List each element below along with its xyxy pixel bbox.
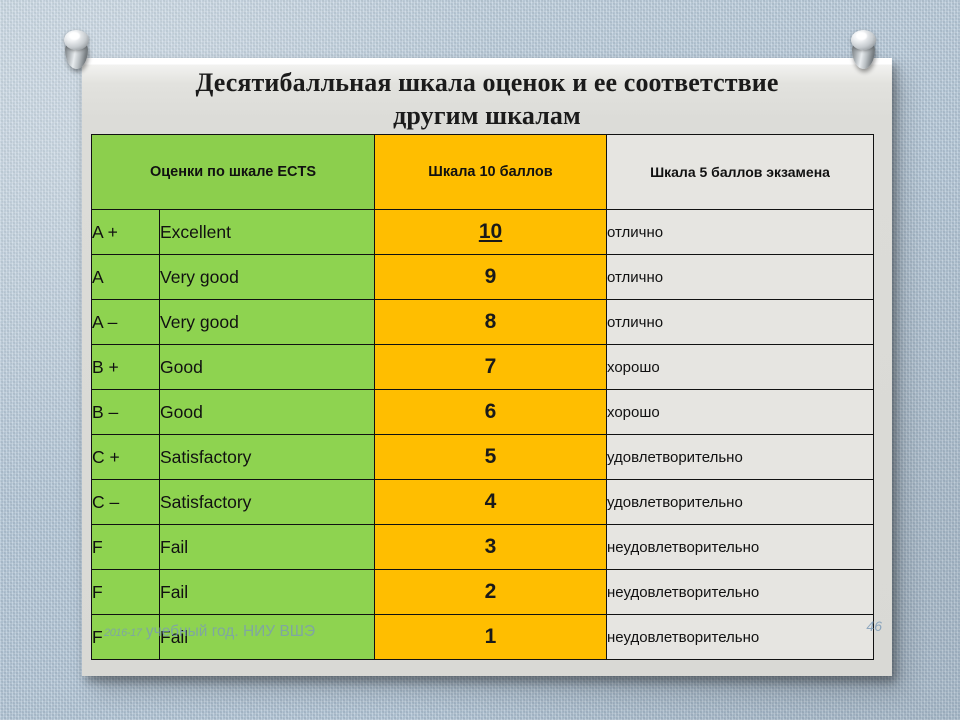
table-body: A +Excellent10отличноAVery good9отличноA…	[92, 210, 874, 660]
slide-title-line-1: Десятибалльная шкала оценок и ее соответ…	[82, 66, 892, 99]
column-header-five-point: Шкала 5 баллов экзамена	[607, 135, 874, 210]
cell-five-point-grade: неудовлетворительно	[607, 615, 874, 660]
cell-ects-description: Excellent	[160, 210, 375, 255]
table-row: C –Satisfactory4удовлетворительно	[92, 480, 874, 525]
column-header-ects: Оценки по шкале ECTS	[92, 135, 375, 210]
cell-ten-point-score: 4	[375, 480, 607, 525]
cell-five-point-grade: удовлетворительно	[607, 480, 874, 525]
cell-five-point-grade: хорошо	[607, 345, 874, 390]
cell-ects-description: Satisfactory	[160, 435, 375, 480]
table-row: A –Very good8отлично	[92, 300, 874, 345]
table-row: B +Good7хорошо	[92, 345, 874, 390]
cell-ten-point-score: 3	[375, 525, 607, 570]
cell-ten-point-score: 8	[375, 300, 607, 345]
cell-ects-description: Satisfactory	[160, 480, 375, 525]
cell-ects-mark: C –	[92, 480, 160, 525]
cell-ten-point-score: 10	[375, 210, 607, 255]
cell-ten-point-score: 2	[375, 570, 607, 615]
ten-point-value: 3	[485, 535, 497, 558]
cell-ten-point-score: 7	[375, 345, 607, 390]
cell-ects-mark: A +	[92, 210, 160, 255]
table-row: FFail1неудовлетворительно	[92, 615, 874, 660]
ten-point-value: 9	[485, 265, 497, 288]
table-row: A +Excellent10отлично	[92, 210, 874, 255]
cell-ects-mark: F	[92, 525, 160, 570]
table-header-row: Оценки по шкале ECTS Шкала 10 баллов Шка…	[92, 135, 874, 210]
cell-ects-mark: F	[92, 615, 160, 660]
cell-ects-mark: F	[92, 570, 160, 615]
cell-ects-description: Fail	[160, 615, 375, 660]
ten-point-value: 10	[479, 220, 502, 243]
cell-five-point-grade: отлично	[607, 300, 874, 345]
cell-five-point-grade: хорошо	[607, 390, 874, 435]
ten-point-value: 2	[485, 580, 497, 603]
presentation-slide: Десятибалльная шкала оценок и ее соответ…	[82, 58, 892, 676]
table-row: FFail2неудовлетворительно	[92, 570, 874, 615]
ten-point-value: 4	[485, 490, 497, 513]
ten-point-value: 1	[485, 625, 497, 648]
cell-ects-description: Fail	[160, 570, 375, 615]
cell-ects-mark: C +	[92, 435, 160, 480]
cell-ten-point-score: 1	[375, 615, 607, 660]
cell-five-point-grade: отлично	[607, 210, 874, 255]
column-header-ten-point: Шкала 10 баллов	[375, 135, 607, 210]
cell-ten-point-score: 5	[375, 435, 607, 480]
cell-ects-description: Good	[160, 345, 375, 390]
slide-title: Десятибалльная шкала оценок и ее соответ…	[82, 66, 892, 132]
cell-ects-mark: B –	[92, 390, 160, 435]
ten-point-value: 5	[485, 445, 497, 468]
table-row: B –Good6хорошо	[92, 390, 874, 435]
cell-ects-mark: A –	[92, 300, 160, 345]
cell-five-point-grade: неудовлетворительно	[607, 570, 874, 615]
ten-point-value: 7	[485, 355, 497, 378]
cell-ects-description: Very good	[160, 300, 375, 345]
cell-five-point-grade: отлично	[607, 255, 874, 300]
grading-scale-table: Оценки по шкале ECTS Шкала 10 баллов Шка…	[91, 134, 874, 660]
table-row: FFail3неудовлетворительно	[92, 525, 874, 570]
cell-ects-mark: A	[92, 255, 160, 300]
cell-ects-description: Fail	[160, 525, 375, 570]
slide-title-line-2: другим шкалам	[82, 99, 892, 132]
cell-ects-description: Very good	[160, 255, 375, 300]
table-row: C +Satisfactory5удовлетворительно	[92, 435, 874, 480]
ten-point-value: 8	[485, 310, 497, 333]
cell-ten-point-score: 6	[375, 390, 607, 435]
cell-ects-description: Good	[160, 390, 375, 435]
cell-ten-point-score: 9	[375, 255, 607, 300]
cell-five-point-grade: неудовлетворительно	[607, 525, 874, 570]
table-row: AVery good9отлично	[92, 255, 874, 300]
cell-ects-mark: B +	[92, 345, 160, 390]
ten-point-value: 6	[485, 400, 497, 423]
cell-five-point-grade: удовлетворительно	[607, 435, 874, 480]
